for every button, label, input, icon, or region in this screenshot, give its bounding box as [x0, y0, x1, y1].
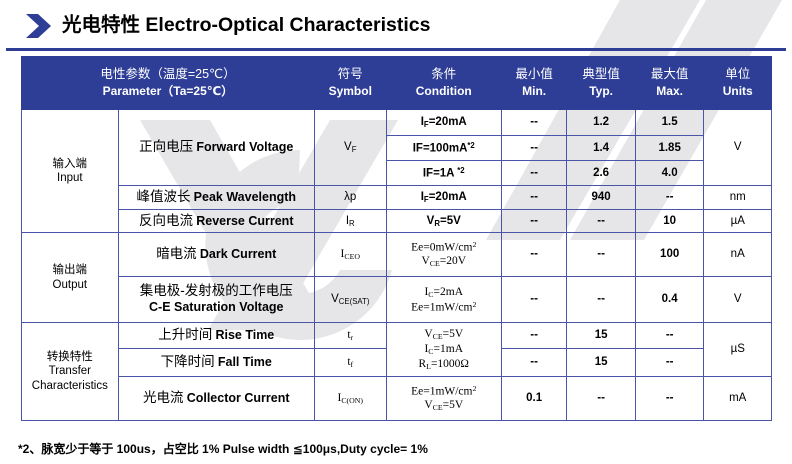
param-fall-time-en: Fall Time [218, 355, 272, 369]
symbol-tr: tr [314, 323, 386, 349]
category-transfer-en: Transfer Characteristics [24, 364, 116, 393]
min-value: -- [501, 210, 566, 233]
param-forward-voltage: 正向电压 Forward Voltage [118, 110, 314, 186]
condition-ic-2ma-ee-1mw: IC=2mAEe=1mW/cm2 [386, 277, 501, 323]
table-row: 集电极-发射极的工作电压 C-E Saturation Voltage VCE(… [22, 277, 772, 323]
symbol-lambda-p: λp [314, 186, 386, 210]
unit-volt: V [704, 110, 772, 186]
header-symbol-cn: 符号 [317, 67, 384, 83]
table-row: 输入端 Input 正向电压 Forward Voltage VF IF=20m… [22, 110, 772, 136]
symbol-iceo: ICEO [314, 233, 386, 277]
param-collector-current-cn: 光电流 [143, 390, 184, 405]
param-rise-time-cn: 上升时间 [158, 327, 212, 342]
symbol-ic-on: IC(ON) [314, 377, 386, 421]
header-min-cn: 最小值 [504, 67, 564, 83]
typ-value: 1.2 [567, 110, 636, 136]
symbol-tf: tf [314, 349, 386, 377]
table-row: 光电流 Collector Current IC(ON) Ee=1mW/cm2V… [22, 377, 772, 421]
typ-value: 15 [567, 323, 636, 349]
symbol-vf: VF [314, 110, 386, 186]
header-condition-en: Condition [389, 84, 499, 99]
param-rise-time-en: Rise Time [215, 328, 274, 342]
param-dark-current-en: Dark Current [200, 247, 276, 261]
min-value: -- [501, 136, 566, 161]
header-parameter-en: Parameter（Ta=25℃） [24, 84, 312, 99]
param-rise-time: 上升时间 Rise Time [118, 323, 314, 349]
min-value: -- [501, 349, 566, 377]
table-row: 转换特性 Transfer Characteristics 上升时间 Rise … [22, 323, 772, 349]
param-dark-current: 暗电流 Dark Current [118, 233, 314, 277]
unit-milliamp: mA [704, 377, 772, 421]
header-typ-cn: 典型值 [569, 67, 633, 83]
condition-ee-0-vce-20: Ee=0mW/cm2VCE=20V [386, 233, 501, 277]
header-min: 最小值 Min. [501, 57, 566, 110]
condition-vr-5v: VR=5V [386, 210, 501, 233]
header-min-en: Min. [504, 84, 564, 99]
max-value: -- [635, 349, 704, 377]
category-transfer-cn: 转换特性 [24, 350, 116, 364]
param-reverse-current-en: Reverse Current [196, 214, 293, 228]
table-row: 反向电流 Reverse Current IR VR=5V -- -- 10 µ… [22, 210, 772, 233]
header-parameter-cn: 电性参数（温度=25℃） [24, 67, 312, 83]
max-value: 100 [635, 233, 704, 277]
typ-value: 2.6 [567, 161, 636, 186]
category-output-cn: 输出端 [24, 263, 116, 277]
min-value: -- [501, 110, 566, 136]
condition-if-100ma: IF=100mA*2 [386, 136, 501, 161]
symbol-ir: IR [314, 210, 386, 233]
chevron-right-icon [24, 13, 54, 39]
typ-value: -- [567, 233, 636, 277]
typ-value: 1.4 [567, 136, 636, 161]
section-title-bar: 光电特性 Electro-Optical Characteristics [0, 0, 792, 52]
param-peak-wavelength: 峰值波长 Peak Wavelength [118, 186, 314, 210]
max-value: 0.4 [635, 277, 704, 323]
min-value: 0.1 [501, 377, 566, 421]
symbol-vce-sat: VCE(SAT) [314, 277, 386, 323]
condition-vce5-ic1ma-rl1000: VCE=5VIC=1mARL=1000Ω [386, 323, 501, 377]
header-max: 最大值 Max. [635, 57, 704, 110]
param-reverse-current-cn: 反向电流 [139, 213, 193, 228]
header-symbol: 符号 Symbol [314, 57, 386, 110]
unit-microamp: µA [704, 210, 772, 233]
category-input-en: Input [24, 171, 116, 185]
param-ce-saturation-voltage-en: C-E Saturation Voltage [121, 300, 312, 316]
condition-if-1a: IF=1A *2 [386, 161, 501, 186]
max-value: 1.5 [635, 110, 704, 136]
header-max-cn: 最大值 [638, 67, 702, 83]
condition-ee1mw-vce5v: Ee=1mW/cm2VCE=5V [386, 377, 501, 421]
typ-value: 940 [567, 186, 636, 210]
min-value: -- [501, 186, 566, 210]
category-output-en: Output [24, 278, 116, 292]
header-typ-en: Typ. [569, 84, 633, 99]
min-value: -- [501, 277, 566, 323]
category-output: 输出端 Output [22, 233, 119, 323]
electro-optical-characteristics-table: 电性参数（温度=25℃） Parameter（Ta=25℃） 符号 Symbol… [21, 56, 772, 421]
header-max-en: Max. [638, 84, 702, 99]
footnote-note-2: *2、脉宽少于等于 100us，占空比 1% Pulse width ≦100μ… [18, 440, 428, 457]
unit-nm: nm [704, 186, 772, 210]
max-value: 10 [635, 210, 704, 233]
header-condition: 条件 Condition [386, 57, 501, 110]
table-row: 输出端 Output 暗电流 Dark Current ICEO Ee=0mW/… [22, 233, 772, 277]
page-title: 光电特性 Electro-Optical Characteristics [62, 16, 430, 36]
max-value: 1.85 [635, 136, 704, 161]
max-value: 4.0 [635, 161, 704, 186]
category-input: 输入端 Input [22, 110, 119, 233]
param-fall-time-cn: 下降时间 [161, 354, 215, 369]
param-collector-current: 光电流 Collector Current [118, 377, 314, 421]
header-units: 单位 Units [704, 57, 772, 110]
max-value: -- [635, 186, 704, 210]
param-peak-wavelength-cn: 峰值波长 [136, 189, 190, 204]
param-forward-voltage-cn: 正向电压 [139, 139, 193, 154]
category-transfer-characteristics: 转换特性 Transfer Characteristics [22, 323, 119, 421]
unit-volt: V [704, 277, 772, 323]
param-fall-time: 下降时间 Fall Time [118, 349, 314, 377]
condition-if-20ma: IF=20mA [386, 110, 501, 136]
typ-value: -- [567, 210, 636, 233]
typ-value: -- [567, 277, 636, 323]
unit-microsecond: µS [704, 323, 772, 377]
typ-value: 15 [567, 349, 636, 377]
header-units-en: Units [706, 84, 769, 99]
condition-if-20ma: IF=20mA [386, 186, 501, 210]
category-input-cn: 输入端 [24, 157, 116, 171]
unit-nanoamp: nA [704, 233, 772, 277]
param-peak-wavelength-en: Peak Wavelength [194, 190, 296, 204]
max-value: -- [635, 323, 704, 349]
param-ce-saturation-voltage: 集电极-发射极的工作电压 C-E Saturation Voltage [118, 277, 314, 323]
max-value: -- [635, 377, 704, 421]
table-row: 峰值波长 Peak Wavelength λp IF=20mA -- 940 -… [22, 186, 772, 210]
min-value: -- [501, 233, 566, 277]
header-parameter: 电性参数（温度=25℃） Parameter（Ta=25℃） [22, 57, 315, 110]
param-ce-saturation-voltage-cn: 集电极-发射极的工作电压 [121, 283, 312, 300]
header-units-cn: 单位 [706, 67, 769, 83]
min-value: -- [501, 161, 566, 186]
header-typ: 典型值 Typ. [567, 57, 636, 110]
table-header-row: 电性参数（温度=25℃） Parameter（Ta=25℃） 符号 Symbol… [22, 57, 772, 110]
param-reverse-current: 反向电流 Reverse Current [118, 210, 314, 233]
typ-value: -- [567, 377, 636, 421]
param-forward-voltage-en: Forward Voltage [196, 140, 293, 154]
min-value: -- [501, 323, 566, 349]
title-underline-rule [6, 48, 786, 51]
param-dark-current-cn: 暗电流 [156, 246, 197, 261]
param-collector-current-en: Collector Current [187, 391, 290, 405]
header-condition-cn: 条件 [389, 67, 499, 83]
header-symbol-en: Symbol [317, 84, 384, 99]
